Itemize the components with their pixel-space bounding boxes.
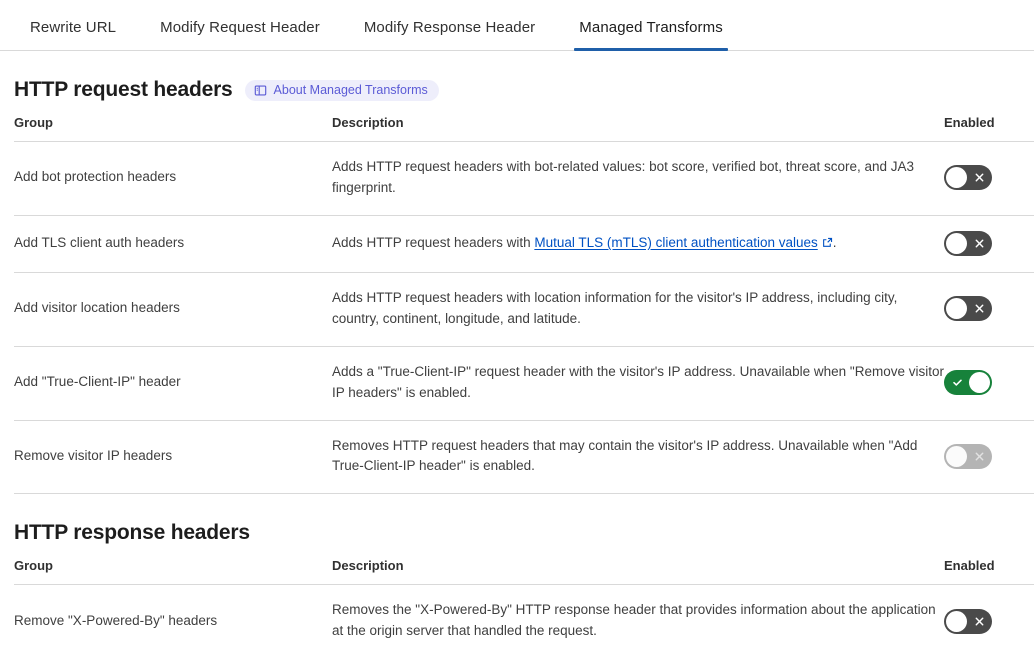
tab-modify-response-header[interactable]: Modify Response Header bbox=[348, 20, 551, 50]
toggle-knob bbox=[946, 167, 967, 188]
about-managed-transforms-link[interactable]: About Managed Transforms bbox=[245, 80, 439, 101]
toggle-knob bbox=[946, 298, 967, 319]
description-text-after: . bbox=[833, 235, 837, 250]
section-http-response-headers: HTTP response headers Group Description … bbox=[0, 494, 1034, 653]
row-description: Removes HTTP request headers that may co… bbox=[332, 420, 944, 494]
close-icon bbox=[974, 296, 985, 321]
row-group-label: Add bot protection headers bbox=[14, 142, 332, 216]
check-icon bbox=[952, 370, 963, 395]
column-header-enabled: Enabled bbox=[944, 558, 1034, 585]
table-row: Add visitor location headers Adds HTTP r… bbox=[14, 272, 1034, 346]
tab-label: Rewrite URL bbox=[30, 19, 116, 36]
table-header-row: Group Description Enabled bbox=[14, 115, 1034, 142]
close-icon bbox=[974, 609, 985, 634]
tab-bar: Rewrite URL Modify Request Header Modify… bbox=[0, 0, 1034, 51]
row-enabled-cell bbox=[944, 346, 1034, 420]
request-headers-table: Group Description Enabled Add bot protec… bbox=[14, 115, 1034, 494]
close-icon bbox=[974, 165, 985, 190]
table-row: Add bot protection headers Adds HTTP req… bbox=[14, 142, 1034, 216]
row-group-label: Add visitor location headers bbox=[14, 272, 332, 346]
row-description: Adds HTTP request headers with bot-relat… bbox=[332, 142, 944, 216]
table-row: Remove visitor IP headers Removes HTTP r… bbox=[14, 420, 1034, 494]
about-pill-label: About Managed Transforms bbox=[274, 84, 428, 97]
tab-modify-request-header[interactable]: Modify Request Header bbox=[144, 20, 336, 50]
row-group-label: Add "True-Client-IP" header bbox=[14, 346, 332, 420]
row-enabled-cell bbox=[944, 215, 1034, 272]
column-header-description: Description bbox=[332, 558, 944, 585]
mtls-documentation-link[interactable]: Mutual TLS (mTLS) client authentication … bbox=[534, 235, 817, 250]
tab-label: Modify Response Header bbox=[364, 19, 535, 36]
column-header-group: Group bbox=[14, 115, 332, 142]
book-icon bbox=[254, 84, 267, 97]
table-header-row: Group Description Enabled bbox=[14, 558, 1034, 585]
close-icon bbox=[974, 231, 985, 256]
table-row: Remove "X-Powered-By" headers Removes th… bbox=[14, 585, 1034, 653]
description-text-before: Adds HTTP request headers with bbox=[332, 235, 534, 250]
section-header: HTTP request headers About Managed Trans… bbox=[14, 51, 1020, 115]
row-enabled-cell bbox=[944, 272, 1034, 346]
tab-managed-transforms[interactable]: Managed Transforms bbox=[563, 20, 739, 50]
response-headers-table: Group Description Enabled Remove "X-Powe… bbox=[14, 558, 1034, 653]
tab-label: Managed Transforms bbox=[579, 19, 723, 36]
toggle-add-true-client-ip-header[interactable] bbox=[944, 370, 992, 395]
toggle-knob bbox=[969, 372, 990, 393]
column-header-description: Description bbox=[332, 115, 944, 142]
table-row: Add "True-Client-IP" header Adds a "True… bbox=[14, 346, 1034, 420]
page-title: HTTP request headers bbox=[14, 78, 233, 102]
row-group-label: Remove "X-Powered-By" headers bbox=[14, 585, 332, 653]
tab-rewrite-url[interactable]: Rewrite URL bbox=[14, 20, 132, 50]
row-description: Adds a "True-Client-IP" request header w… bbox=[332, 346, 944, 420]
toggle-add-bot-protection-headers[interactable] bbox=[944, 165, 992, 190]
toggle-knob bbox=[946, 446, 967, 467]
row-description: Adds HTTP request headers with Mutual TL… bbox=[332, 215, 944, 272]
page-title: HTTP response headers bbox=[14, 521, 250, 545]
toggle-remove-visitor-ip-headers bbox=[944, 444, 992, 469]
column-header-enabled: Enabled bbox=[944, 115, 1034, 142]
section-header: HTTP response headers bbox=[14, 494, 1020, 558]
toggle-add-visitor-location-headers[interactable] bbox=[944, 296, 992, 321]
tab-label: Modify Request Header bbox=[160, 19, 320, 36]
row-description: Removes the "X-Powered-By" HTTP response… bbox=[332, 585, 944, 653]
toggle-remove-x-powered-by-headers[interactable] bbox=[944, 609, 992, 634]
toggle-knob bbox=[946, 611, 967, 632]
toggle-add-tls-client-auth-headers[interactable] bbox=[944, 231, 992, 256]
row-enabled-cell bbox=[944, 585, 1034, 653]
toggle-knob bbox=[946, 233, 967, 254]
close-icon bbox=[974, 444, 985, 469]
column-header-group: Group bbox=[14, 558, 332, 585]
section-http-request-headers: HTTP request headers About Managed Trans… bbox=[0, 51, 1034, 494]
external-link-icon[interactable] bbox=[822, 234, 833, 245]
row-group-label: Add TLS client auth headers bbox=[14, 215, 332, 272]
row-enabled-cell bbox=[944, 420, 1034, 494]
row-enabled-cell bbox=[944, 142, 1034, 216]
table-row: Add TLS client auth headers Adds HTTP re… bbox=[14, 215, 1034, 272]
link-label: Mutual TLS (mTLS) client authentication … bbox=[534, 235, 817, 250]
row-description: Adds HTTP request headers with location … bbox=[332, 272, 944, 346]
row-group-label: Remove visitor IP headers bbox=[14, 420, 332, 494]
